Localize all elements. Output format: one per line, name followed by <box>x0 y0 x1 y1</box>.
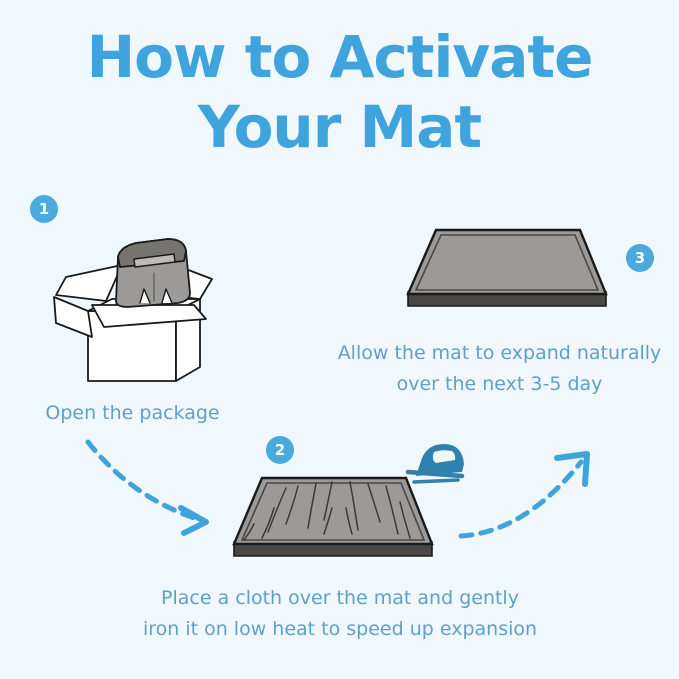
infographic-canvas: How to Activate Your Mat 1 <box>0 0 679 679</box>
step-2-caption-line-2: iron it on low heat to speed up expansio… <box>110 614 570 645</box>
step-2-caption: Place a cloth over the mat and gently ir… <box>110 583 570 645</box>
step-2-caption-line-1: Place a cloth over the mat and gently <box>110 583 570 614</box>
step-3-caption-line-2: over the next 3-5 day <box>320 369 679 400</box>
flat-mat-icon <box>400 220 615 325</box>
page-title-line-1: How to Activate <box>0 28 679 86</box>
step-1-caption: Open the package <box>0 398 265 429</box>
step-3-caption: Allow the mat to expand naturally over t… <box>320 338 679 400</box>
step-3-caption-line-1: Allow the mat to expand naturally <box>320 338 679 369</box>
step-3-number-badge: 3 <box>626 244 654 272</box>
curved-dashed-arrow-up-right-icon <box>455 436 605 546</box>
page-title: How to Activate Your Mat <box>0 28 679 156</box>
page-title-line-2: Your Mat <box>0 98 679 156</box>
open-cardboard-box-icon <box>44 215 224 395</box>
curved-dashed-arrow-down-right-icon <box>80 436 230 546</box>
step-2-number-badge: 2 <box>266 436 294 464</box>
